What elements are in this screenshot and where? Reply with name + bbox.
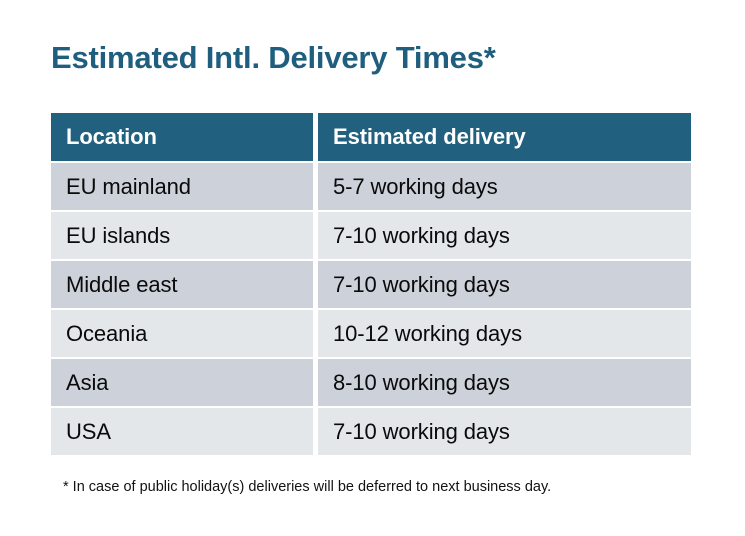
column-header-location: Location bbox=[51, 113, 313, 161]
cell-delivery: 10-12 working days bbox=[318, 310, 691, 357]
table-row: Oceania 10-12 working days bbox=[51, 310, 691, 357]
cell-delivery: 7-10 working days bbox=[318, 212, 691, 259]
cell-location: EU mainland bbox=[51, 163, 313, 210]
cell-delivery: 8-10 working days bbox=[318, 359, 691, 406]
cell-location: Asia bbox=[51, 359, 313, 406]
cell-location: USA bbox=[51, 408, 313, 455]
cell-delivery: 7-10 working days bbox=[318, 261, 691, 308]
delivery-times-panel: Estimated Intl. Delivery Times* Location… bbox=[0, 0, 745, 536]
cell-delivery: 5-7 working days bbox=[318, 163, 691, 210]
page-title: Estimated Intl. Delivery Times* bbox=[51, 36, 496, 80]
table-row: Middle east 7-10 working days bbox=[51, 261, 691, 308]
table-row: Asia 8-10 working days bbox=[51, 359, 691, 406]
cell-delivery: 7-10 working days bbox=[318, 408, 691, 455]
column-header-estimated-delivery: Estimated delivery bbox=[318, 113, 691, 161]
table-row: EU islands 7-10 working days bbox=[51, 212, 691, 259]
cell-location: Oceania bbox=[51, 310, 313, 357]
cell-location: EU islands bbox=[51, 212, 313, 259]
delivery-times-table: Location Estimated delivery EU mainland … bbox=[51, 113, 691, 455]
table-row: USA 7-10 working days bbox=[51, 408, 691, 455]
footnote-text: * In case of public holiday(s) deliverie… bbox=[63, 477, 551, 497]
cell-location: Middle east bbox=[51, 261, 313, 308]
table-header-row: Location Estimated delivery bbox=[51, 113, 691, 161]
table-row: EU mainland 5-7 working days bbox=[51, 163, 691, 210]
